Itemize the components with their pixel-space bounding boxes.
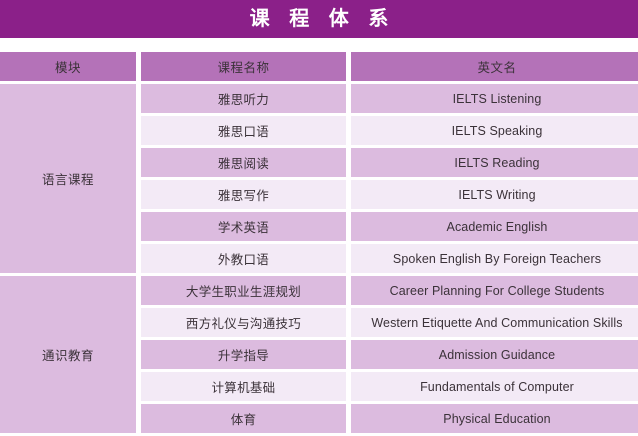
course-name-cell: 外教口语 bbox=[141, 244, 346, 273]
table-body: 语言课程 雅思听力 IELTS Listening 雅思口语 IELTS Spe… bbox=[0, 84, 638, 433]
page-title: 课 程 体 系 bbox=[243, 9, 396, 29]
table-row: 语言课程 雅思听力 IELTS Listening bbox=[0, 84, 638, 113]
course-english-cell: Academic English bbox=[351, 212, 638, 241]
course-english-cell: IELTS Listening bbox=[351, 84, 638, 113]
title-bar: 课 程 体 系 bbox=[0, 0, 638, 38]
course-english-cell: Physical Education bbox=[351, 404, 638, 433]
column-header-english-name: 英文名 bbox=[351, 52, 638, 81]
course-name-cell: 大学生职业生涯规划 bbox=[141, 276, 346, 305]
course-name-cell: 升学指导 bbox=[141, 340, 346, 369]
course-english-cell: Admission Guidance bbox=[351, 340, 638, 369]
curriculum-table-wrapper: 模块 课程名称 英文名 语言课程 雅思听力 IELTS Listening 雅思… bbox=[0, 52, 638, 436]
module-group-label: 通识教育 bbox=[0, 276, 136, 433]
page-root: 课 程 体 系 模块 课程名称 英文名 语言课程 雅思听力 bbox=[0, 0, 638, 426]
course-english-cell: Spoken English By Foreign Teachers bbox=[351, 244, 638, 273]
course-name-cell: 学术英语 bbox=[141, 212, 346, 241]
column-header-course-name: 课程名称 bbox=[141, 52, 346, 81]
course-name-cell: 雅思口语 bbox=[141, 116, 346, 145]
table-row: 通识教育 大学生职业生涯规划 Career Planning For Colle… bbox=[0, 276, 638, 305]
course-english-cell: Fundamentals of Computer bbox=[351, 372, 638, 401]
course-english-cell: IELTS Speaking bbox=[351, 116, 638, 145]
course-name-cell: 雅思听力 bbox=[141, 84, 346, 113]
course-name-cell: 体育 bbox=[141, 404, 346, 433]
table-header: 模块 课程名称 英文名 bbox=[0, 52, 638, 81]
course-english-cell: Career Planning For College Students bbox=[351, 276, 638, 305]
column-header-module: 模块 bbox=[0, 52, 136, 81]
course-name-cell: 雅思阅读 bbox=[141, 148, 346, 177]
table-header-row: 模块 课程名称 英文名 bbox=[0, 52, 638, 81]
course-name-cell: 计算机基础 bbox=[141, 372, 346, 401]
curriculum-table: 模块 课程名称 英文名 语言课程 雅思听力 IELTS Listening 雅思… bbox=[0, 49, 638, 436]
module-group-label: 语言课程 bbox=[0, 84, 136, 273]
course-english-cell: IELTS Reading bbox=[351, 148, 638, 177]
course-name-cell: 雅思写作 bbox=[141, 180, 346, 209]
course-english-cell: IELTS Writing bbox=[351, 180, 638, 209]
course-name-cell: 西方礼仪与沟通技巧 bbox=[141, 308, 346, 337]
course-english-cell: Western Etiquette And Communication Skil… bbox=[351, 308, 638, 337]
